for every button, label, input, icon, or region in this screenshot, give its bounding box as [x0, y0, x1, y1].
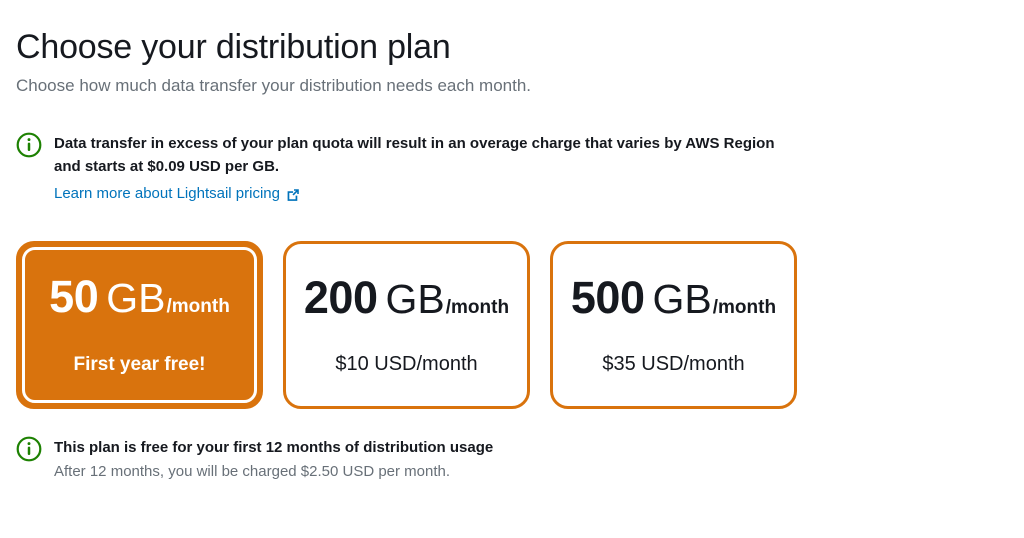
plan-quota-amount: 500 [571, 273, 645, 323]
plan-price-amount: $10 [335, 353, 368, 375]
plan-price-50gb: First year free! [73, 352, 205, 378]
plan-quota-200gb: 200 GB /month [304, 273, 509, 333]
free-tier-info-alert: This plan is free for your first 12 mont… [16, 435, 1008, 483]
info-circle-icon [16, 436, 42, 462]
info-circle-icon [16, 132, 42, 158]
lightsail-pricing-link[interactable]: Learn more about Lightsail pricing [54, 183, 300, 205]
plan-quota-period: /month [166, 282, 229, 332]
page-title: Choose your distribution plan [16, 0, 1008, 68]
external-link-icon [286, 187, 300, 201]
distribution-plan-page: Choose your distribution plan Choose how… [0, 0, 1024, 538]
plan-quota-period: /month [446, 283, 509, 333]
plan-card-500gb[interactable]: 500 GB /month $35 USD/month [550, 241, 797, 409]
plan-price-200gb: $10 USD/month [335, 351, 477, 377]
plan-quota-unit: GB [386, 274, 445, 324]
plan-card-50gb[interactable]: 50 GB /month First year free! [16, 241, 263, 409]
plan-quota-period: /month [713, 283, 776, 333]
overage-alert-body: Data transfer in excess of your plan quo… [54, 131, 784, 205]
plan-card-200gb[interactable]: 200 GB /month $10 USD/month [283, 241, 530, 409]
free-tier-alert-body: This plan is free for your first 12 mont… [54, 435, 493, 483]
plan-price-unit: USD/month [369, 353, 478, 375]
overage-info-alert: Data transfer in excess of your plan quo… [16, 131, 1008, 205]
plan-card-list: 50 GB /month First year free! 200 GB /mo… [16, 241, 1008, 409]
plan-quota-unit: GB [653, 274, 712, 324]
free-tier-alert-detail: After 12 months, you will be charged $2.… [54, 459, 493, 483]
overage-alert-message: Data transfer in excess of your plan quo… [54, 132, 784, 178]
plan-quota-amount: 50 [49, 272, 98, 322]
plan-price-amount: $35 [602, 353, 635, 375]
free-tier-alert-title: This plan is free for your first 12 mont… [54, 436, 493, 459]
page-subtitle: Choose how much data transfer your distr… [16, 68, 1008, 98]
plan-price-unit: USD/month [636, 353, 745, 375]
plan-price-500gb: $35 USD/month [602, 351, 744, 377]
plan-quota-500gb: 500 GB /month [571, 273, 776, 333]
lightsail-pricing-link-label: Learn more about Lightsail pricing [54, 183, 280, 205]
plan-quota-amount: 200 [304, 273, 378, 323]
plan-quota-50gb: 50 GB /month [49, 272, 230, 332]
plan-quota-unit: GB [106, 273, 165, 323]
